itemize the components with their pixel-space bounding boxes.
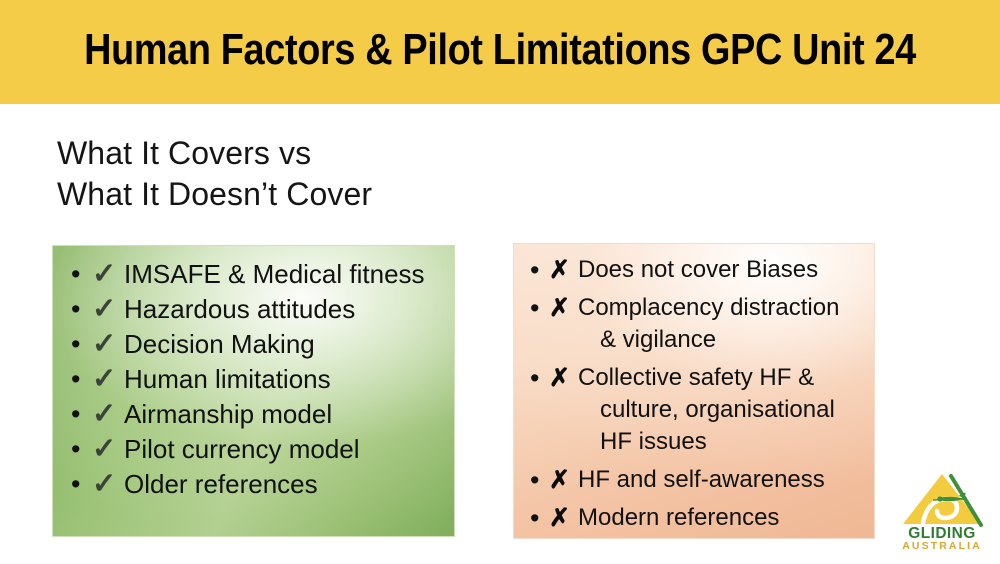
subtitle: What It Covers vs What It Doesn’t Cover — [57, 133, 372, 215]
check-icon: ✓ — [92, 397, 116, 432]
list-item-label: Airmanship model — [124, 397, 451, 432]
list-item-label: Older references — [124, 467, 451, 502]
check-icon: ✓ — [92, 467, 116, 502]
covers-list: • ✓ IMSAFE & Medical fitness • ✓ Hazardo… — [71, 257, 451, 502]
bullet-dot-icon: • — [530, 464, 546, 496]
list-item-line: & vigilance — [600, 324, 878, 356]
bullet-dot-icon: • — [71, 292, 87, 327]
list-item-line: HF issues — [600, 426, 878, 458]
list-item-label: Human limitations — [124, 362, 451, 397]
bullet-dot-icon: • — [71, 397, 87, 432]
bullet-dot-icon: • — [71, 257, 87, 292]
list-item: • ✓ IMSAFE & Medical fitness — [71, 257, 451, 292]
list-item: • ✓ Airmanship model — [71, 397, 451, 432]
list-item: • ✗ Complacency distraction & vigilance — [530, 292, 878, 356]
check-icon: ✓ — [92, 362, 116, 397]
list-item-label: Pilot currency model — [124, 432, 451, 467]
list-item-line: Complacency distraction — [578, 292, 878, 324]
bullet-dot-icon: • — [530, 362, 546, 394]
list-item-label: Collective safety HF & culture, organisa… — [578, 362, 878, 458]
list-item-label: IMSAFE & Medical fitness — [124, 257, 451, 292]
bullet-dot-icon: • — [71, 467, 87, 502]
bullet-dot-icon: • — [530, 502, 546, 534]
list-item: • ✓ Human limitations — [71, 362, 451, 397]
list-item-line: culture, organisational — [600, 394, 878, 426]
title-banner: Human Factors & Pilot Limitations GPC Un… — [0, 0, 1000, 104]
list-item-label: Does not cover Biases — [578, 254, 878, 286]
list-item-label: Hazardous attitudes — [124, 292, 451, 327]
cross-icon: ✗ — [549, 362, 570, 394]
list-item-label: Modern references — [578, 502, 878, 534]
list-item-line: Collective safety HF & — [578, 362, 878, 394]
covers-panel: • ✓ IMSAFE & Medical fitness • ✓ Hazardo… — [52, 245, 455, 537]
check-icon: ✓ — [92, 292, 116, 327]
check-icon: ✓ — [92, 327, 116, 362]
not-covers-list: • ✗ Does not cover Biases • ✗ Complacenc… — [530, 254, 878, 540]
check-icon: ✓ — [92, 257, 116, 292]
list-item: • ✗ Modern references — [530, 502, 878, 534]
list-item: • ✓ Decision Making — [71, 327, 451, 362]
page-title: Human Factors & Pilot Limitations GPC Un… — [70, 0, 930, 104]
list-item-line: Does not cover Biases — [578, 254, 878, 286]
cross-icon: ✗ — [549, 464, 570, 496]
list-item-label: Complacency distraction & vigilance — [578, 292, 878, 356]
list-item: • ✗ Collective safety HF & culture, orga… — [530, 362, 878, 458]
list-item-line: Modern references — [578, 502, 878, 534]
list-item: • ✓ Pilot currency model — [71, 432, 451, 467]
bullet-dot-icon: • — [71, 327, 87, 362]
bullet-dot-icon: • — [71, 432, 87, 467]
check-icon: ✓ — [92, 432, 116, 467]
list-item: • ✗ HF and self-awareness — [530, 464, 878, 496]
list-item-label: Decision Making — [124, 327, 451, 362]
gliding-australia-logo: GLIDING AUSTRALIA — [893, 468, 991, 552]
bullet-dot-icon: • — [530, 254, 546, 286]
logo-line2: AUSTRALIA — [902, 540, 982, 552]
list-item: • ✗ Does not cover Biases — [530, 254, 878, 286]
list-item-label: HF and self-awareness — [578, 464, 878, 496]
bullet-dot-icon: • — [530, 292, 546, 324]
slide-root: Human Factors & Pilot Limitations GPC Un… — [0, 0, 1000, 564]
cross-icon: ✗ — [549, 502, 570, 534]
bullet-dot-icon: • — [71, 362, 87, 397]
list-item: • ✓ Older references — [71, 467, 451, 502]
cross-icon: ✗ — [549, 292, 570, 324]
cross-icon: ✗ — [549, 254, 570, 286]
list-item-line: HF and self-awareness — [578, 464, 878, 496]
not-covers-panel: • ✗ Does not cover Biases • ✗ Complacenc… — [513, 243, 875, 539]
list-item: • ✓ Hazardous attitudes — [71, 292, 451, 327]
